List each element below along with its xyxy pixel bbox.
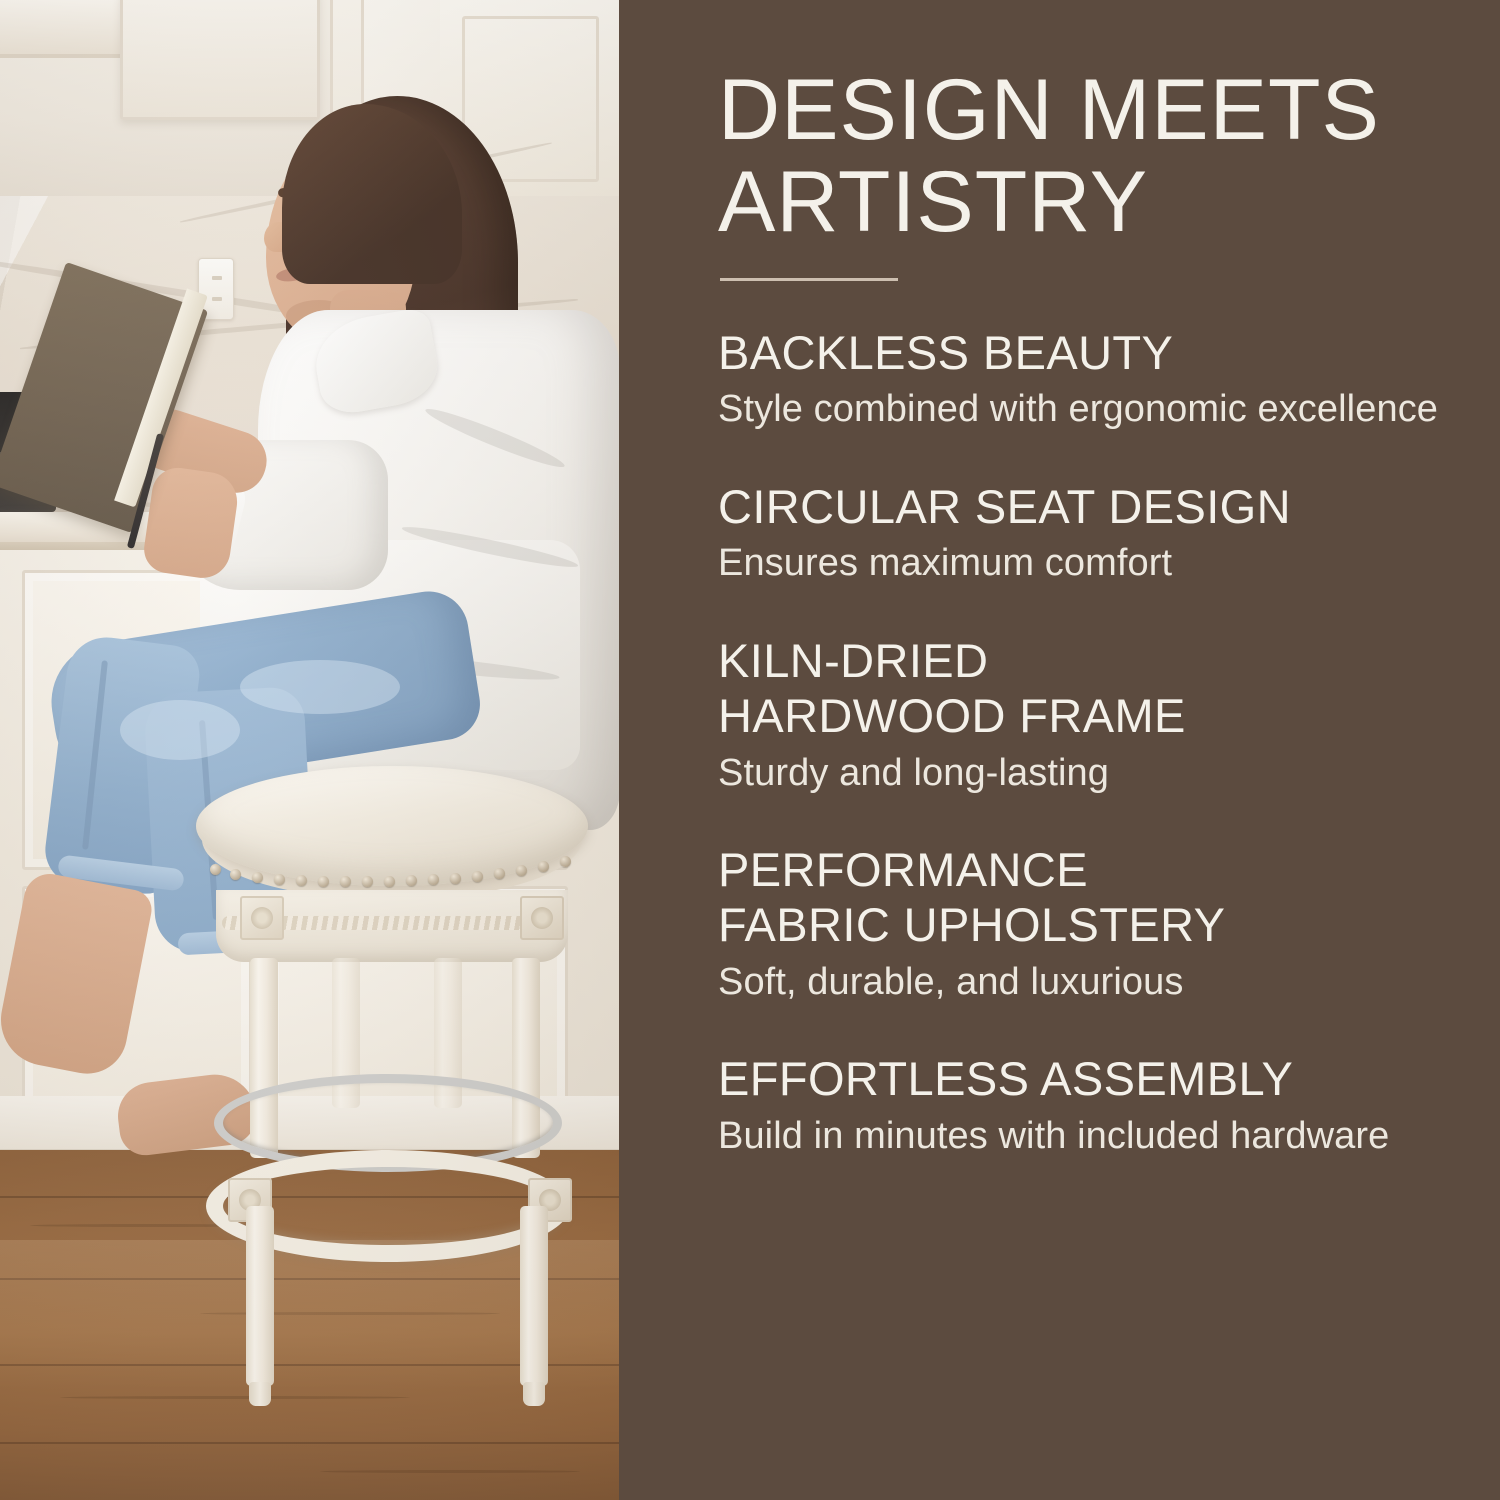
feature-title: KILN-DRIED HARDWOOD FRAME	[718, 633, 1448, 744]
nailhead	[516, 865, 527, 876]
title-divider	[720, 278, 898, 281]
nailhead	[384, 876, 395, 887]
nailhead	[340, 876, 351, 887]
nailhead	[296, 875, 307, 886]
denim-fade	[240, 660, 400, 714]
feature-title: BACKLESS BEAUTY	[718, 325, 1448, 380]
feature-item-backless-beauty: BACKLESS BEAUTY Style combined with ergo…	[718, 325, 1448, 433]
feature-title: PERFORMANCE FABRIC UPHOLSTERY	[718, 842, 1448, 953]
feature-item-performance-fabric-upholstery: PERFORMANCE FABRIC UPHOLSTERY Soft, dura…	[718, 842, 1448, 1005]
nailhead	[472, 871, 483, 882]
feature-description: Build in minutes with included hardware	[718, 1113, 1448, 1159]
page-title: DESIGN MEETS ARTISTRY	[718, 64, 1448, 248]
nailhead	[406, 875, 417, 886]
stool-foot	[523, 1382, 545, 1406]
kitchen-scene	[0, 0, 619, 1500]
feature-description: Sturdy and long-lasting	[718, 750, 1448, 796]
nailhead	[252, 872, 263, 883]
lifestyle-photo	[0, 0, 619, 1500]
stool-leg-lower	[520, 1206, 548, 1386]
nailhead	[230, 869, 241, 880]
nailhead	[362, 876, 373, 887]
nailhead	[494, 868, 505, 879]
feature-item-kiln-dried-hardwood-frame: KILN-DRIED HARDWOOD FRAME Sturdy and lon…	[718, 633, 1448, 796]
feature-item-circular-seat-design: CIRCULAR SEAT DESIGN Ensures maximum com…	[718, 479, 1448, 587]
feature-description: Soft, durable, and luxurious	[718, 959, 1448, 1005]
stool-foot	[249, 1382, 271, 1406]
hand-lower	[141, 465, 241, 582]
nailhead	[274, 874, 285, 885]
feature-item-effortless-assembly: EFFORTLESS ASSEMBLY Build in minutes wit…	[718, 1051, 1448, 1159]
feature-title: CIRCULAR SEAT DESIGN	[718, 479, 1448, 534]
stool-leg-lower	[246, 1206, 274, 1386]
foot-upper	[0, 870, 155, 1081]
nailhead	[428, 874, 439, 885]
nailhead	[560, 856, 571, 867]
carved-rosette	[240, 896, 284, 940]
nailhead	[538, 861, 549, 872]
feature-panel: DESIGN MEETS ARTISTRY BACKLESS BEAUTY St…	[619, 0, 1500, 1500]
nailhead-trim	[208, 844, 576, 878]
feature-description: Ensures maximum comfort	[718, 540, 1448, 586]
nailhead	[450, 873, 461, 884]
feature-title: EFFORTLESS ASSEMBLY	[718, 1051, 1448, 1106]
feature-description: Style combined with ergonomic excellence	[718, 386, 1448, 432]
nailhead	[318, 876, 329, 887]
product-infographic: DESIGN MEETS ARTISTRY BACKLESS BEAUTY St…	[0, 0, 1500, 1500]
feature-list: BACKLESS BEAUTY Style combined with ergo…	[718, 325, 1448, 1159]
denim-fade	[120, 700, 240, 760]
carved-rosette	[520, 896, 564, 940]
nailhead	[210, 864, 221, 875]
